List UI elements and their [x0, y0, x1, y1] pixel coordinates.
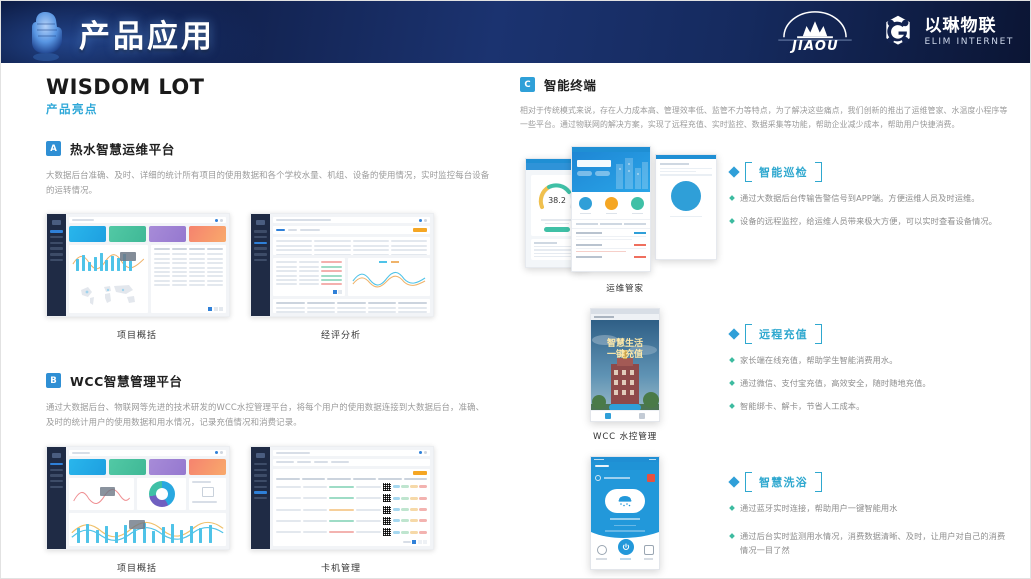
section-b-badge: B	[46, 373, 61, 388]
screenshot-economic-analysis[interactable]: 经评分析	[250, 213, 432, 341]
mock-world-map	[72, 277, 145, 310]
mock-stat-cards	[69, 459, 226, 475]
phone-right-detail	[655, 154, 717, 260]
feature-2-title: 远程充值	[745, 324, 822, 344]
phone-hero-illustration: 智慧生活 一键充值	[591, 320, 659, 421]
screenshot-image	[46, 446, 230, 550]
qr-code-icon	[383, 506, 391, 514]
svg-text:智慧生活: 智慧生活	[607, 337, 643, 349]
feature-2-bullets: 远程充值 家长端在线充值，帮助学生智能消费用水。 通过微信、支付宝充值，高效安全…	[730, 308, 1008, 422]
mock-sidebar	[47, 214, 66, 316]
brand-title-en: WISDOM LOT	[46, 75, 490, 99]
section-a-title: 热水智慧运维平台	[70, 139, 175, 158]
power-icon	[622, 543, 630, 551]
phone-main-panel	[591, 470, 659, 532]
section-c-desc: 相对于传统模式来说，存在人力成本高、管理效率低、监管不力等特点，为了解决这些痛点…	[520, 104, 1008, 132]
phone-caption: 运维管家	[606, 282, 644, 294]
bullet-dot-icon	[729, 218, 735, 224]
jiaou-logo: JIAOU	[772, 9, 858, 55]
feature-smart-bathing: 水温度 智慧洗浴 通过蓝牙实时连接，帮助用户一键智能用水 通过后台实时监测用水情…	[520, 456, 1008, 579]
feature-1-title-row: 智能巡检	[730, 162, 1008, 182]
section-b-head: B WCC智慧管理平台	[46, 371, 490, 390]
section-a-head: A 热水智慧运维平台	[46, 139, 490, 158]
feature-1-bullets: 智能巡检 通过大数据后台传输告警信号到APP端。方便运维人员及时运维。 设备的远…	[730, 146, 1008, 238]
qr-code-icon	[383, 483, 391, 491]
section-c-head: C 智能终端	[520, 75, 1008, 94]
tab-my-device[interactable]	[618, 539, 634, 559]
mock-content	[270, 447, 433, 549]
qr-code-icon	[383, 528, 391, 536]
screenshot-image	[46, 213, 230, 317]
mock-area-chart	[69, 478, 134, 510]
feature-2-title-row: 远程充值	[730, 324, 1008, 344]
screenshot-wcc-overview[interactable]: 项目概括	[46, 446, 228, 574]
svg-text:38.2: 38.2	[548, 196, 566, 205]
elim-logo-en: ELIM INTERNET	[924, 38, 1014, 47]
phone-hero-banner	[572, 152, 650, 192]
mock-combo-chart	[69, 513, 226, 546]
screenshot-image	[250, 213, 434, 317]
header-logos: JIAOU 以琳物联 ELIM INTERNET	[772, 1, 1014, 63]
mock-data-table	[151, 245, 226, 313]
screenshot-caption: 项目概括	[46, 328, 228, 341]
bullet-text: 通过蓝牙实时连接，帮助用户一键智能用水	[740, 502, 897, 516]
feature-1-title: 智能巡检	[745, 162, 822, 182]
screenshot-caption: 卡机管理	[250, 561, 432, 574]
mock-donut-chart	[137, 478, 186, 510]
diamond-icon	[728, 476, 739, 487]
table-row	[276, 528, 427, 536]
elim-logo-text: 以琳物联 ELIM INTERNET	[924, 18, 1014, 47]
feature-remote-recharge: 智慧生活 一键充值 WCC 水控管理	[520, 308, 1008, 442]
screenshot-caption: 项目概括	[46, 561, 228, 574]
shower-head-icon	[605, 489, 645, 513]
bullet-text: 家长端在线充值，帮助学生智能消费用水。	[740, 354, 897, 368]
bullet-item: 通过大数据后台传输告警信号到APP端。方便运维人员及时运维。	[730, 192, 1008, 206]
section-a: A 热水智慧运维平台 大数据后台准确、及时、详细的统计所有项目的使用数据和各个学…	[46, 139, 490, 341]
phone-filter-bar[interactable]	[572, 219, 650, 229]
phone-caption: WCC 水控管理	[593, 430, 657, 442]
mock-info-panel	[189, 478, 226, 510]
feature-3-bullets: 智慧洗浴 通过蓝牙实时连接，帮助用户一键智能用水 通过后台实时监测用水情况，消费…	[730, 456, 1008, 566]
mock-bar-chart	[72, 248, 145, 274]
bullet-item: 家长端在线充值，帮助学生智能消费用水。	[730, 354, 1008, 368]
phone-bottom-bar	[591, 532, 659, 565]
jiaou-logo-text: JIAOU	[772, 39, 858, 54]
section-a-desc: 大数据后台准确、及时、详细的统计所有项目的使用数据和各个学校水量、机组、设备的使…	[46, 168, 490, 197]
page-title: 产品应用	[79, 11, 215, 56]
bullet-item: 通过蓝牙实时连接，帮助用户一键智能用水	[730, 502, 1008, 516]
section-a-screenshots: 项目概括	[46, 213, 490, 341]
brand-title-cn: 产品亮点	[46, 101, 490, 117]
list-item[interactable]	[576, 232, 646, 234]
bullet-item: 设备的远程监控，给运维人员带来极大方便，可以实时查看设备情况。	[730, 215, 1008, 229]
tab-mine[interactable]	[644, 545, 654, 559]
bullet-text: 通过微信、支付宝充值，高效安全，随时随地充值。	[740, 377, 931, 391]
mock-stat-cards	[69, 226, 226, 242]
feature-3-title: 智慧洗浴	[745, 472, 822, 492]
mock-status-table	[273, 258, 345, 296]
table-row	[276, 517, 427, 525]
phone-center-ops	[571, 146, 651, 272]
phone-alert-list	[572, 229, 650, 262]
phone-app-bar	[591, 462, 659, 470]
section-c-badge: C	[520, 77, 535, 92]
feature-smart-inspection: 38.2	[520, 146, 1008, 294]
mock-sidebar	[251, 447, 270, 549]
water-temp-phone-group[interactable]: 水温度	[520, 456, 730, 579]
section-b: B WCC智慧管理平台 通过大数据后台、物联网等先进的技术研发的WCC水控管理平…	[46, 371, 490, 573]
left-column: WISDOM LOT 产品亮点 A 热水智慧运维平台 大数据后台准确、及时、详细…	[1, 63, 510, 579]
bullet-dot-icon	[729, 533, 735, 539]
tab-icon-profile[interactable]	[639, 413, 645, 419]
screenshot-card-machine[interactable]: 卡机管理	[250, 446, 432, 574]
bullet-text: 智能绑卡、解卡，节省人工成本。	[740, 400, 864, 414]
elim-logo-cn: 以琳物联	[924, 18, 1014, 35]
product-application-page: 产品应用 JIAOU	[0, 0, 1031, 579]
mock-line-chart	[348, 258, 430, 296]
elim-logo: 以琳物联 ELIM INTERNET	[880, 14, 1014, 50]
list-item[interactable]	[576, 256, 646, 258]
bullet-dot-icon	[729, 505, 735, 511]
bullet-dot-icon	[729, 403, 735, 409]
table-row	[276, 483, 427, 491]
mock-sidebar	[251, 214, 270, 316]
bullet-item: 通过后台实时监测用水情况，消费数据清晰、及时，让用户对自己的消费情况一目了然	[730, 530, 1008, 558]
page-header: 产品应用 JIAOU	[1, 1, 1030, 63]
section-b-desc: 通过大数据后台、物联网等先进的技术研发的WCC水控管理平台，将每个用户的使用数据…	[46, 400, 490, 429]
action-icon-3[interactable]	[631, 197, 644, 214]
mock-content	[270, 214, 433, 316]
bullet-text: 通过后台实时监测用水情况，消费数据清晰、及时，让用户对自己的消费情况一目了然	[740, 530, 1008, 558]
right-column: C 智能终端 相对于传统模式来说，存在人力成本高、管理效率低、监管不力等特点，为…	[510, 63, 1030, 579]
qr-code-icon	[383, 517, 391, 525]
screenshot-caption: 经评分析	[250, 328, 432, 341]
section-b-title: WCC智慧管理平台	[70, 371, 183, 390]
screenshot-image	[250, 446, 434, 550]
bullet-item: 通过微信、支付宝充值，高效安全，随时随地充值。	[730, 377, 1008, 391]
ops-butler-phone-group[interactable]: 38.2	[520, 146, 730, 294]
diamond-icon	[728, 166, 739, 177]
qr-code-icon	[383, 494, 391, 502]
section-a-badge: A	[46, 141, 61, 156]
section-c-title: 智能终端	[544, 75, 596, 94]
ops-butler-phones: 38.2	[525, 146, 725, 274]
bullet-dot-icon	[729, 380, 735, 386]
svg-text:一键充值: 一键充值	[607, 348, 643, 360]
list-item[interactable]	[576, 244, 646, 246]
tab-icon-home[interactable]	[605, 413, 611, 419]
action-icon-2[interactable]	[605, 197, 618, 214]
action-icon-1[interactable]	[579, 197, 592, 214]
bullet-text: 设备的远程监控，给运维人员带来极大方便，可以实时查看设备情况。	[740, 215, 997, 229]
phone-tab-bar[interactable]	[591, 410, 659, 421]
sunrise-crown-icon	[772, 9, 858, 41]
bullet-dot-icon	[729, 195, 735, 201]
wcc-recharge-phone: 智慧生活 一键充值	[590, 308, 660, 422]
section-b-screenshots: 项目概括	[46, 446, 490, 574]
mock-sidebar	[47, 447, 66, 549]
avatar	[647, 474, 655, 482]
phone-quick-actions	[572, 192, 650, 219]
g-letter-icon	[880, 14, 916, 50]
fist-icon	[23, 5, 69, 61]
bullet-text: 通过大数据后台传输告警信号到APP端。方便运维人员及时运维。	[740, 192, 980, 206]
bullet-dot-icon	[729, 357, 735, 363]
screenshot-project-overview[interactable]: 项目概括	[46, 213, 228, 341]
page-body: WISDOM LOT 产品亮点 A 热水智慧运维平台 大数据后台准确、及时、详细…	[1, 63, 1030, 579]
water-temp-phone	[590, 456, 660, 570]
mock-content	[66, 214, 229, 316]
table-row	[276, 494, 427, 502]
table-row	[276, 506, 427, 514]
mock-card-table	[273, 469, 430, 546]
wcc-phone-group[interactable]: 智慧生活 一键充值 WCC 水控管理	[520, 308, 730, 442]
mock-content	[66, 447, 229, 549]
diamond-icon	[728, 328, 739, 339]
bullet-item: 智能绑卡、解卡，节省人工成本。	[730, 400, 1008, 414]
feature-3-title-row: 智慧洗浴	[730, 472, 1008, 492]
tab-cost-query[interactable]	[596, 545, 607, 559]
